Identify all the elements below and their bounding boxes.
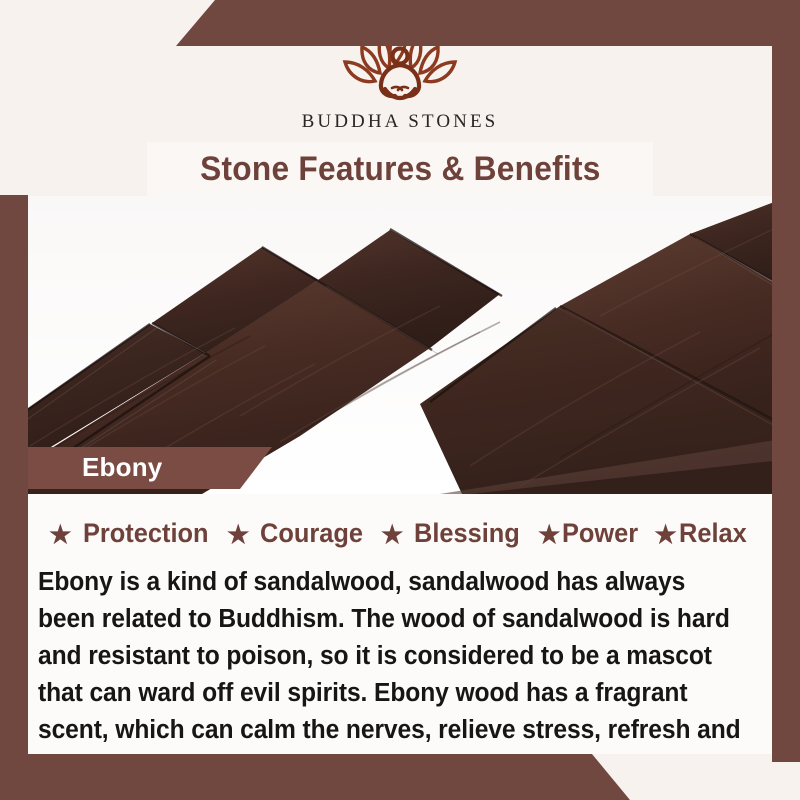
benefit-item-courage: ★Courage <box>227 518 370 549</box>
star-icon: ★ <box>654 523 676 548</box>
star-icon: ★ <box>381 523 403 548</box>
frame-border-left <box>0 195 28 800</box>
content-section: ★Protection★Courage★Blessing★Power★Relax… <box>0 494 800 754</box>
star-icon: ★ <box>49 523 71 548</box>
benefit-label-courage: Courage <box>260 518 363 549</box>
brand-name: BUDDHA STONES <box>0 111 800 133</box>
benefit-item-protection: ★Protection <box>49 518 216 549</box>
page-title: Stone Features & Benefits <box>200 150 601 189</box>
benefit-item-power: ★Power <box>538 518 643 549</box>
benefit-label-protection: Protection <box>83 518 209 549</box>
benefit-label-blessing: Blessing <box>414 518 520 549</box>
benefit-item-blessing: ★Blessing <box>381 518 527 549</box>
product-label: Ebony <box>82 452 162 483</box>
benefit-item-relax: ★Relax <box>654 518 750 549</box>
frame-border-right <box>772 0 800 762</box>
description-text: Ebony is a kind of sandalwood, sandalwoo… <box>38 564 742 786</box>
benefit-label-power: Power <box>562 518 638 549</box>
title-banner: Stone Features & Benefits <box>147 142 653 196</box>
benefit-label-relax: Relax <box>679 518 747 549</box>
star-icon: ★ <box>227 523 249 548</box>
star-icon: ★ <box>538 523 560 548</box>
benefits-list: ★Protection★Courage★Blessing★Power★Relax <box>0 518 800 549</box>
poster-canvas: BUDDHA STONES Stone Features & Benefits <box>0 0 800 800</box>
